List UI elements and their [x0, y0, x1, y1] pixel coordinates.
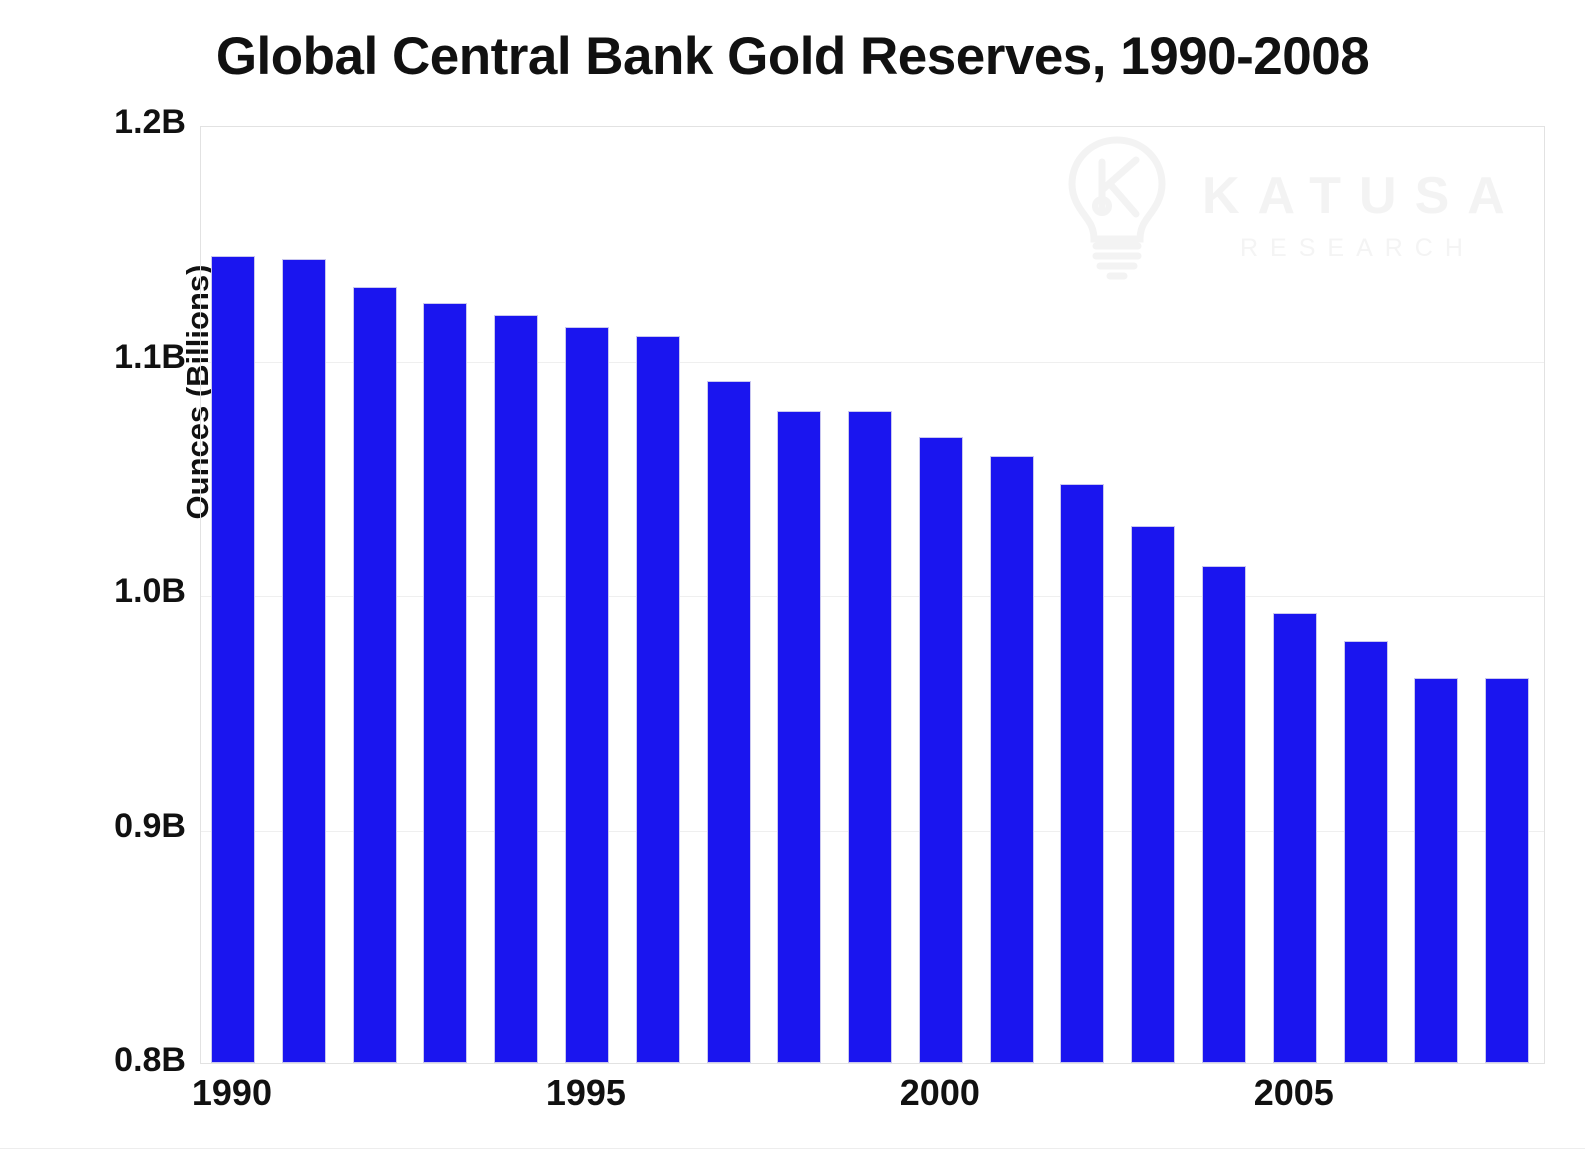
y-tick-label: 1.2B	[36, 103, 186, 142]
bar	[919, 437, 963, 1063]
bar	[1485, 678, 1529, 1063]
chart-title: Global Central Bank Gold Reserves, 1990-…	[0, 26, 1585, 87]
bar	[777, 411, 821, 1063]
y-tick-label: 0.9B	[36, 807, 186, 846]
x-axis-tick-labels: 1990199520002005	[200, 1072, 1545, 1132]
bar	[707, 381, 751, 1063]
bar	[353, 287, 397, 1063]
bar	[636, 336, 680, 1063]
x-tick-label: 2005	[1214, 1072, 1374, 1114]
x-tick-label: 1990	[152, 1072, 312, 1114]
bar	[1202, 566, 1246, 1063]
plot-area	[200, 126, 1545, 1064]
x-tick-label: 1995	[506, 1072, 666, 1114]
bar	[494, 315, 538, 1063]
bottom-divider	[0, 1148, 1585, 1149]
bar	[211, 256, 255, 1063]
y-axis-tick-labels: 1.2B1.1B1.0B0.9B0.8B	[28, 126, 186, 1064]
bar	[282, 259, 326, 1063]
bar	[1273, 613, 1317, 1063]
y-tick-label: 1.0B	[36, 572, 186, 611]
bar	[1344, 641, 1388, 1063]
y-tick-label: 1.1B	[36, 338, 186, 377]
bar	[423, 303, 467, 1063]
gold-reserves-bar-chart: Global Central Bank Gold Reserves, 1990-…	[0, 0, 1585, 1160]
bar	[1060, 484, 1104, 1063]
bar	[565, 327, 609, 1063]
bar	[1131, 526, 1175, 1063]
bar	[1414, 678, 1458, 1063]
bar	[848, 411, 892, 1063]
x-tick-label: 2000	[860, 1072, 1020, 1114]
bar	[990, 456, 1034, 1063]
gridline	[201, 362, 1544, 363]
